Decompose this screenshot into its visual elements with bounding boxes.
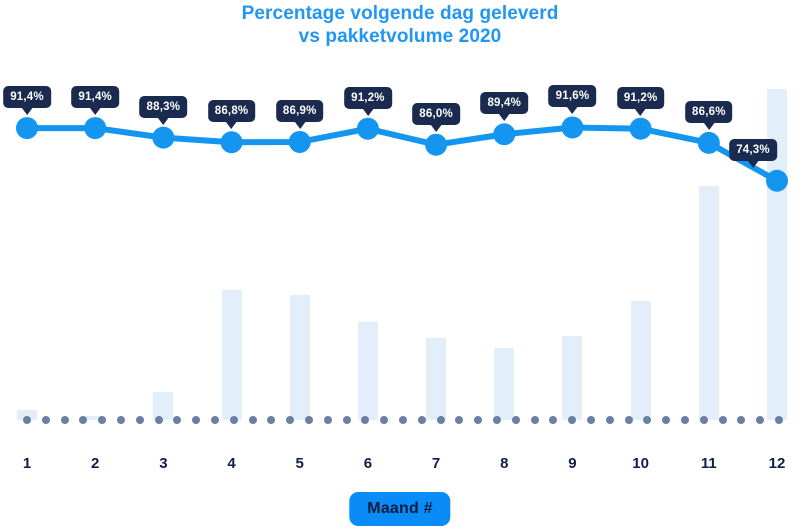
data-point-marker[interactable] xyxy=(16,117,38,139)
line-series-svg xyxy=(0,0,800,440)
data-label-tooltip: 91,2% xyxy=(617,87,665,109)
data-label-tooltip: 74,3% xyxy=(729,139,777,161)
data-point-marker[interactable] xyxy=(630,118,652,140)
x-axis-tick-label: 4 xyxy=(227,455,235,472)
x-axis-tick-label: 2 xyxy=(91,455,99,472)
data-label-tooltip: 91,2% xyxy=(344,87,392,109)
data-label-tooltip: 86,8% xyxy=(208,100,256,122)
data-point-marker[interactable] xyxy=(152,127,174,149)
data-label-tooltip: 86,6% xyxy=(685,101,733,123)
data-point-marker[interactable] xyxy=(357,118,379,140)
x-axis: 123456789101112 xyxy=(0,440,800,485)
data-point-marker[interactable] xyxy=(425,134,447,156)
data-point-marker[interactable] xyxy=(493,123,515,145)
x-axis-tick-label: 11 xyxy=(701,455,717,472)
x-axis-tick-label: 1 xyxy=(23,455,31,472)
data-label-tooltip: 89,4% xyxy=(480,92,528,114)
data-label-tooltip: 91,4% xyxy=(3,86,51,108)
series-markers xyxy=(16,116,788,191)
x-axis-tick-label: 12 xyxy=(769,455,786,472)
data-label-tooltip: 86,9% xyxy=(276,100,324,122)
x-axis-tick-label: 9 xyxy=(568,455,576,472)
x-axis-tick-label: 8 xyxy=(500,455,508,472)
x-axis-tick-label: 3 xyxy=(159,455,167,472)
data-label-tooltip: 86,0% xyxy=(412,103,460,125)
data-point-marker[interactable] xyxy=(698,132,720,154)
chart-page: Percentage volgende dag geleverd vs pakk… xyxy=(0,0,800,532)
data-point-marker[interactable] xyxy=(766,170,788,192)
plot-area: 91,4%91,4%88,3%86,8%86,9%91,2%86,0%89,4%… xyxy=(0,0,800,440)
axis-title-maand-button[interactable]: Maand # xyxy=(349,492,450,526)
data-point-marker[interactable] xyxy=(561,116,583,138)
data-point-marker[interactable] xyxy=(221,131,243,153)
data-point-marker[interactable] xyxy=(84,117,106,139)
x-axis-tick-label: 7 xyxy=(432,455,440,472)
data-label-tooltip: 91,6% xyxy=(549,85,597,107)
x-axis-tick-label: 10 xyxy=(632,455,649,472)
series-line xyxy=(27,127,777,180)
data-label-tooltip: 88,3% xyxy=(140,96,188,118)
data-label-tooltip: 91,4% xyxy=(71,86,119,108)
x-axis-tick-label: 5 xyxy=(296,455,304,472)
x-axis-tick-label: 6 xyxy=(364,455,372,472)
data-point-marker[interactable] xyxy=(289,131,311,153)
